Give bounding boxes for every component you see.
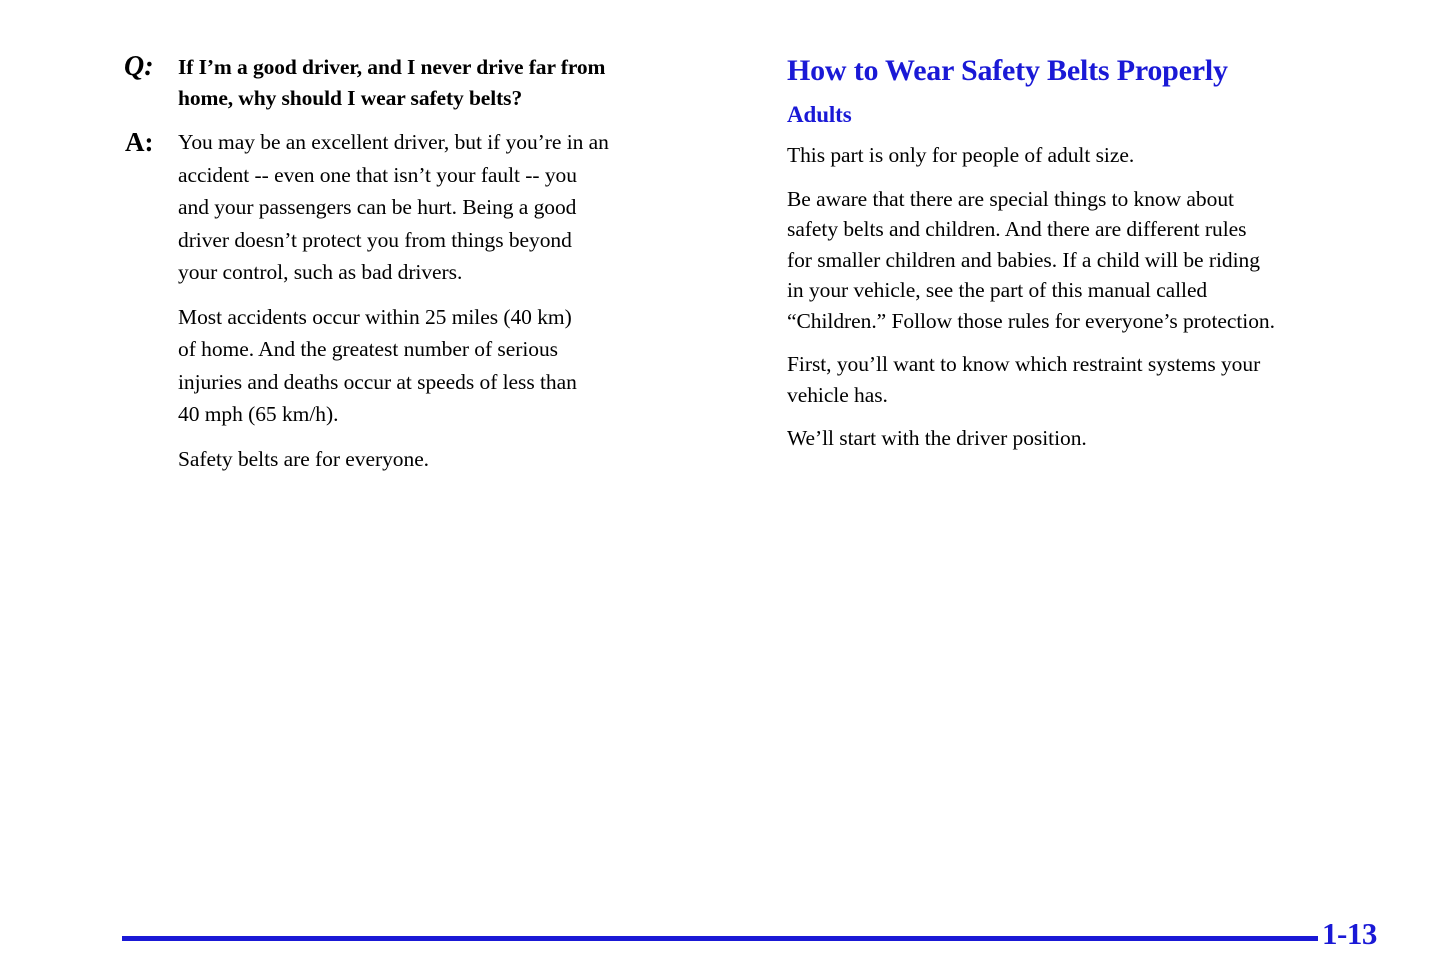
right-paragraph-driver-position-line-1: We’ll start with the driver position. bbox=[787, 426, 1087, 450]
answer-line-2: accident -- even one that isn’t your fau… bbox=[178, 163, 577, 187]
left-paragraph-everyone: Safety belts are for everyone. bbox=[122, 443, 732, 476]
question-block: Q: If I’m a good driver, and I never dri… bbox=[122, 52, 732, 114]
right-paragraph-restraint-systems-line-2: vehicle has. bbox=[787, 383, 888, 407]
left-paragraph-accidents-line-2: of home. And the greatest number of seri… bbox=[178, 337, 558, 361]
right-paragraph-adult-size: This part is only for people of adult si… bbox=[787, 140, 1395, 171]
answer-text: You may be an excellent driver, but if y… bbox=[178, 126, 732, 289]
right-paragraph-children-line-1: Be aware that there are special things t… bbox=[787, 187, 1234, 211]
answer-line-4: driver doesn’t protect you from things b… bbox=[178, 228, 572, 252]
right-paragraph-children-line-5: “Children.” Follow those rules for every… bbox=[787, 309, 1275, 333]
answer-line-1: You may be an excellent driver, but if y… bbox=[178, 130, 609, 154]
footer-rule bbox=[122, 936, 1318, 941]
left-paragraph-accidents-line-3: injuries and deaths occur at speeds of l… bbox=[178, 370, 577, 394]
page-number: 1-13 bbox=[1322, 915, 1377, 953]
left-paragraph-accidents-line-1: Most accidents occur within 25 miles (40… bbox=[178, 305, 572, 329]
question-marker: Q: bbox=[124, 51, 154, 83]
right-paragraph-children-line-3: for smaller children and babies. If a ch… bbox=[787, 248, 1260, 272]
subsection-heading-adults: Adults bbox=[787, 100, 1395, 130]
answer-block: A: You may be an excellent driver, but i… bbox=[122, 126, 732, 289]
right-column: How to Wear Safety Belts Properly Adults… bbox=[787, 52, 1395, 467]
answer-line-5: your control, such as bad drivers. bbox=[178, 260, 462, 284]
question-line-1: If I’m a good driver, and I never drive … bbox=[178, 55, 605, 79]
left-paragraph-accidents: Most accidents occur within 25 miles (40… bbox=[122, 301, 732, 431]
page-footer: 1-13 bbox=[0, 885, 1445, 965]
manual-page: Q: If I’m a good driver, and I never dri… bbox=[0, 0, 1445, 965]
right-paragraph-restraint-systems-line-1: First, you’ll want to know which restrai… bbox=[787, 352, 1260, 376]
right-paragraph-driver-position: We’ll start with the driver position. bbox=[787, 423, 1395, 454]
right-paragraph-restraint-systems: First, you’ll want to know which restrai… bbox=[787, 349, 1395, 410]
answer-marker: A: bbox=[125, 126, 154, 158]
answer-line-3: and your passengers can be hurt. Being a… bbox=[178, 195, 576, 219]
right-paragraph-children-line-2: safety belts and children. And there are… bbox=[787, 217, 1246, 241]
right-paragraph-adult-size-line-1: This part is only for people of adult si… bbox=[787, 143, 1134, 167]
left-column: Q: If I’m a good driver, and I never dri… bbox=[122, 52, 732, 485]
right-paragraph-children-line-4: in your vehicle, see the part of this ma… bbox=[787, 278, 1207, 302]
left-paragraph-everyone-line-1: Safety belts are for everyone. bbox=[178, 447, 429, 471]
right-paragraph-children: Be aware that there are special things t… bbox=[787, 184, 1395, 337]
question-line-2: home, why should I wear safety belts? bbox=[178, 86, 522, 110]
left-paragraph-accidents-line-4: 40 mph (65 km/h). bbox=[178, 402, 338, 426]
question-text: If I’m a good driver, and I never drive … bbox=[178, 52, 732, 114]
section-heading: How to Wear Safety Belts Properly bbox=[787, 52, 1395, 90]
